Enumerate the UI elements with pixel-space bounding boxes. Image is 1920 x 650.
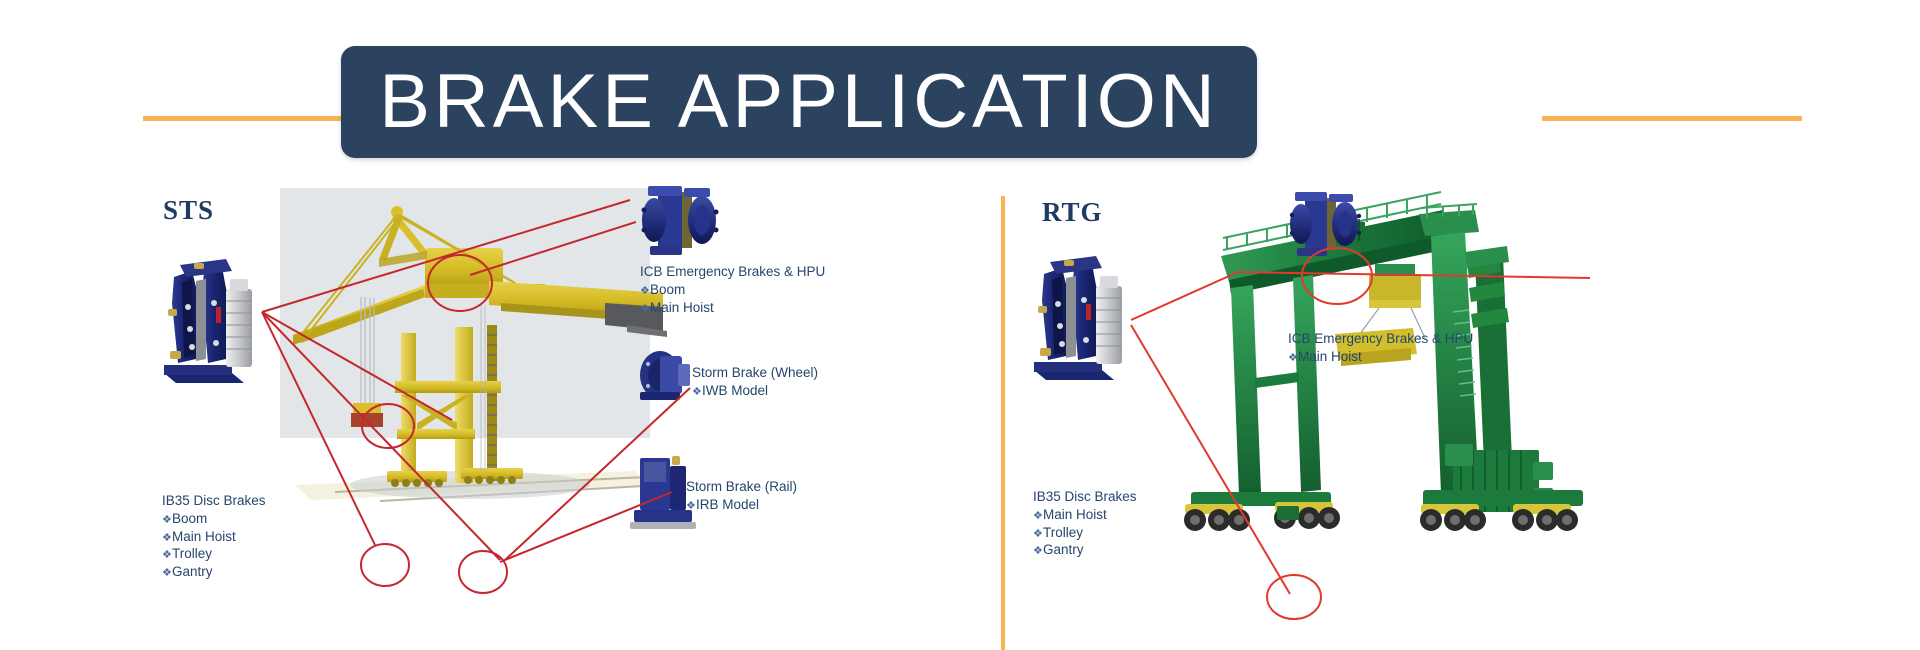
sts-disc-brake-product-image: [152, 255, 262, 395]
callout-head: Storm Brake (Wheel): [692, 364, 818, 382]
callout-head: Storm Brake (Rail): [686, 478, 797, 496]
callout-item: ❖Gantry: [1033, 541, 1137, 559]
diamond-bullet-icon: ❖: [162, 513, 172, 528]
diamond-bullet-icon: ❖: [1288, 351, 1298, 366]
callout-item-label: Trolley: [1043, 525, 1083, 540]
callout-item: ❖IWB Model: [692, 382, 818, 400]
diamond-bullet-icon: ❖: [162, 566, 172, 581]
callout-item-label: IWB Model: [702, 383, 768, 398]
callout-list: ❖Main Hoist: [1288, 348, 1473, 366]
page-title: BRAKE APPLICATION: [379, 64, 1219, 140]
diamond-bullet-icon: ❖: [162, 548, 172, 563]
callout-item-label: Gantry: [1043, 542, 1084, 557]
callout-rtg-disc-brakes: IB35 Disc Brakes ❖Main Hoist ❖Trolley ❖G…: [1033, 488, 1137, 559]
sts-storm-brake-wheel-image: [634, 344, 694, 406]
callout-item: ❖Main Hoist: [640, 299, 825, 317]
callout-head: IB35 Disc Brakes: [1033, 488, 1137, 506]
callout-sts-storm-wheel: Storm Brake (Wheel) ❖IWB Model: [692, 364, 818, 400]
callout-item-label: IRB Model: [696, 497, 759, 512]
callout-item-label: Boom: [172, 511, 207, 526]
callout-head: IB35 Disc Brakes: [162, 492, 266, 510]
callout-item: ❖Boom: [640, 281, 825, 299]
callout-head: ICB Emergency Brakes & HPU: [640, 263, 825, 281]
callout-item-label: Boom: [650, 282, 685, 297]
callout-list: ❖Boom ❖Main Hoist ❖Trolley ❖Gantry: [162, 510, 266, 581]
callout-item-label: Gantry: [172, 564, 213, 579]
diamond-bullet-icon: ❖: [1033, 509, 1043, 524]
callout-sts-icb: ICB Emergency Brakes & HPU ❖Boom ❖Main H…: [640, 263, 825, 316]
callout-sts-disc-brakes: IB35 Disc Brakes ❖Boom ❖Main Hoist ❖Trol…: [162, 492, 266, 581]
sts-icb-brake-product-image: [636, 182, 726, 264]
callout-item: ❖Trolley: [162, 545, 266, 563]
diamond-bullet-icon: ❖: [686, 499, 696, 514]
diamond-bullet-icon: ❖: [162, 531, 172, 546]
diamond-bullet-icon: ❖: [692, 385, 702, 400]
diamond-bullet-icon: ❖: [1033, 544, 1043, 559]
diamond-bullet-icon: ❖: [640, 302, 650, 317]
callout-list: ❖Main Hoist ❖Trolley ❖Gantry: [1033, 506, 1137, 559]
panel-title-sts: STS: [163, 195, 214, 226]
title-banner: BRAKE APPLICATION: [341, 46, 1257, 158]
callout-item-label: Trolley: [172, 546, 212, 561]
diamond-bullet-icon: ❖: [640, 284, 650, 299]
callout-item-label: Main Hoist: [1043, 507, 1107, 522]
callout-item-label: Main Hoist: [650, 300, 714, 315]
accent-rule-right: [1542, 116, 1802, 121]
panel-title-rtg: RTG: [1042, 197, 1103, 228]
callout-item-label: Main Hoist: [1298, 349, 1362, 364]
callout-item: ❖Gantry: [162, 563, 266, 581]
callout-head: ICB Emergency Brakes & HPU: [1288, 330, 1473, 348]
callout-item: ❖Main Hoist: [1033, 506, 1137, 524]
callout-item: ❖Main Hoist: [162, 528, 266, 546]
callout-list: ❖IWB Model: [692, 382, 818, 400]
callout-item: ❖Main Hoist: [1288, 348, 1473, 366]
callout-item: ❖Boom: [162, 510, 266, 528]
diamond-bullet-icon: ❖: [1033, 527, 1043, 542]
rtg-disc-brake-product-image: [1022, 252, 1132, 392]
rtg-icb-brake-product-image: [1285, 188, 1369, 264]
callout-sts-storm-rail: Storm Brake (Rail) ❖IRB Model: [686, 478, 797, 514]
callout-list: ❖IRB Model: [686, 496, 797, 514]
callout-item: ❖Trolley: [1033, 524, 1137, 542]
callout-item: ❖IRB Model: [686, 496, 797, 514]
callout-list: ❖Boom ❖Main Hoist: [640, 281, 825, 317]
callout-rtg-icb: ICB Emergency Brakes & HPU ❖Main Hoist: [1288, 330, 1473, 366]
sts-crane-image: [275, 185, 665, 525]
brake-application-slide: BRAKE APPLICATION STS: [0, 0, 1920, 650]
callout-item-label: Main Hoist: [172, 529, 236, 544]
